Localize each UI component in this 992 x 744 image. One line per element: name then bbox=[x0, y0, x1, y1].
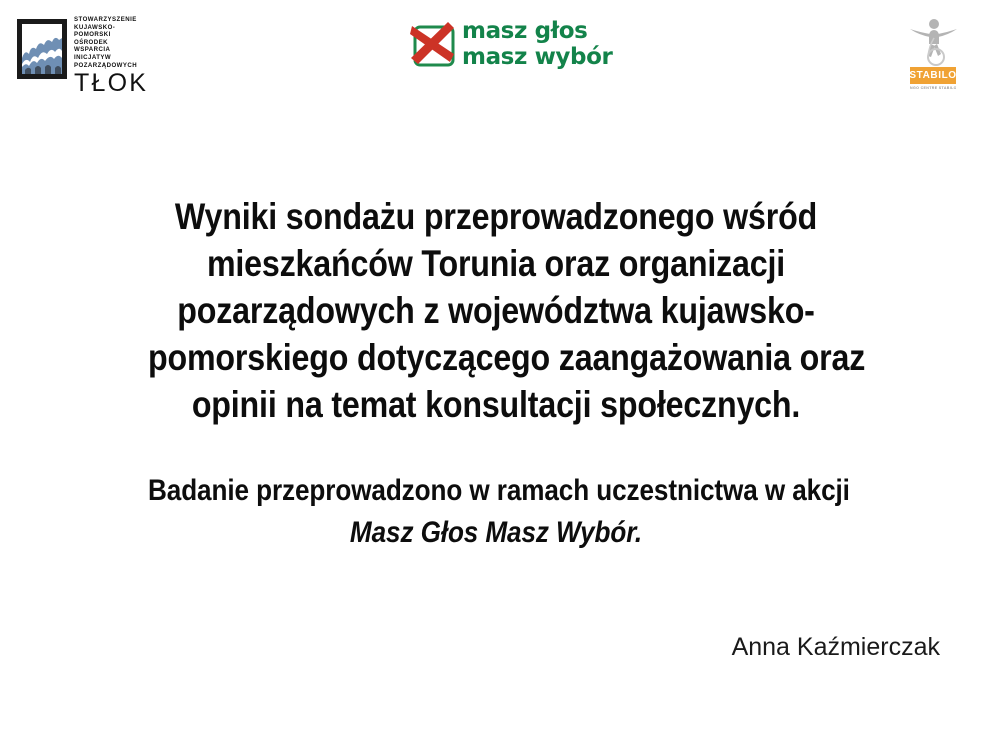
tlok-org-line: WSPARCIA bbox=[74, 46, 192, 54]
tlok-org-line: KUJAWSKO- bbox=[74, 24, 192, 32]
author-name: Anna Kaźmierczak bbox=[520, 632, 940, 662]
balancing-person-icon bbox=[907, 16, 959, 66]
tlok-logo: STOWARZYSZENIE KUJAWSKO- POMORSKI OŚRODE… bbox=[14, 16, 194, 100]
tlok-org-line: OŚRODEK bbox=[74, 39, 192, 47]
slide-subtitle: Badanie przeprowadzono w ramach uczestni… bbox=[96, 470, 896, 554]
ballot-box-x-icon bbox=[408, 20, 460, 72]
title-line: opinii na temat konsultacji społecznych. bbox=[148, 381, 844, 428]
slide-title: Wyniki sondażu przeprowadzonego wśród mi… bbox=[96, 193, 896, 428]
stabilo-wordmark-box: STABILO bbox=[910, 67, 956, 84]
title-line: mieszkańców Torunia oraz organizacji bbox=[148, 240, 844, 287]
stabilo-tagline: NGO CENTRE STABILO bbox=[910, 86, 956, 90]
tlok-org-line: INICJATYW bbox=[74, 54, 192, 62]
title-line: pozarządowych z województwa kujawsko- bbox=[148, 287, 844, 334]
title-line: Wyniki sondażu przeprowadzonego wśród bbox=[148, 193, 844, 240]
subtitle-line: Badanie przeprowadzono w ramach uczestni… bbox=[148, 470, 844, 512]
masz-glos-masz-wybor-logo: masz głos masz wybór bbox=[408, 18, 608, 76]
stabilo-logo: STABILO NGO CENTRE STABILO bbox=[902, 16, 964, 96]
tlok-org-line: POZARZĄDOWYCH bbox=[74, 62, 192, 70]
mgmw-line-1: masz głos bbox=[462, 18, 612, 44]
stabilo-wordmark: STABILO bbox=[909, 70, 956, 81]
tlok-crowd-icon bbox=[16, 18, 68, 80]
title-line: pomorskiego dotyczącego zaangażowania or… bbox=[148, 334, 844, 381]
tlok-org-line: STOWARZYSZENIE bbox=[74, 16, 192, 24]
subtitle-line-campaign: Masz Głos Masz Wybór. bbox=[148, 512, 844, 554]
mgmw-wordmark: masz głos masz wybór bbox=[462, 18, 612, 70]
tlok-acronym: TŁOK bbox=[74, 70, 192, 97]
logo-bar: STOWARZYSZENIE KUJAWSKO- POMORSKI OŚRODE… bbox=[0, 0, 992, 110]
presentation-slide: STOWARZYSZENIE KUJAWSKO- POMORSKI OŚRODE… bbox=[0, 0, 992, 744]
author-block: Anna Kaźmierczak bbox=[520, 632, 940, 662]
mgmw-line-2: masz wybór bbox=[462, 44, 612, 70]
tlok-wordmark: STOWARZYSZENIE KUJAWSKO- POMORSKI OŚRODE… bbox=[74, 16, 192, 97]
tlok-org-line: POMORSKI bbox=[74, 31, 192, 39]
